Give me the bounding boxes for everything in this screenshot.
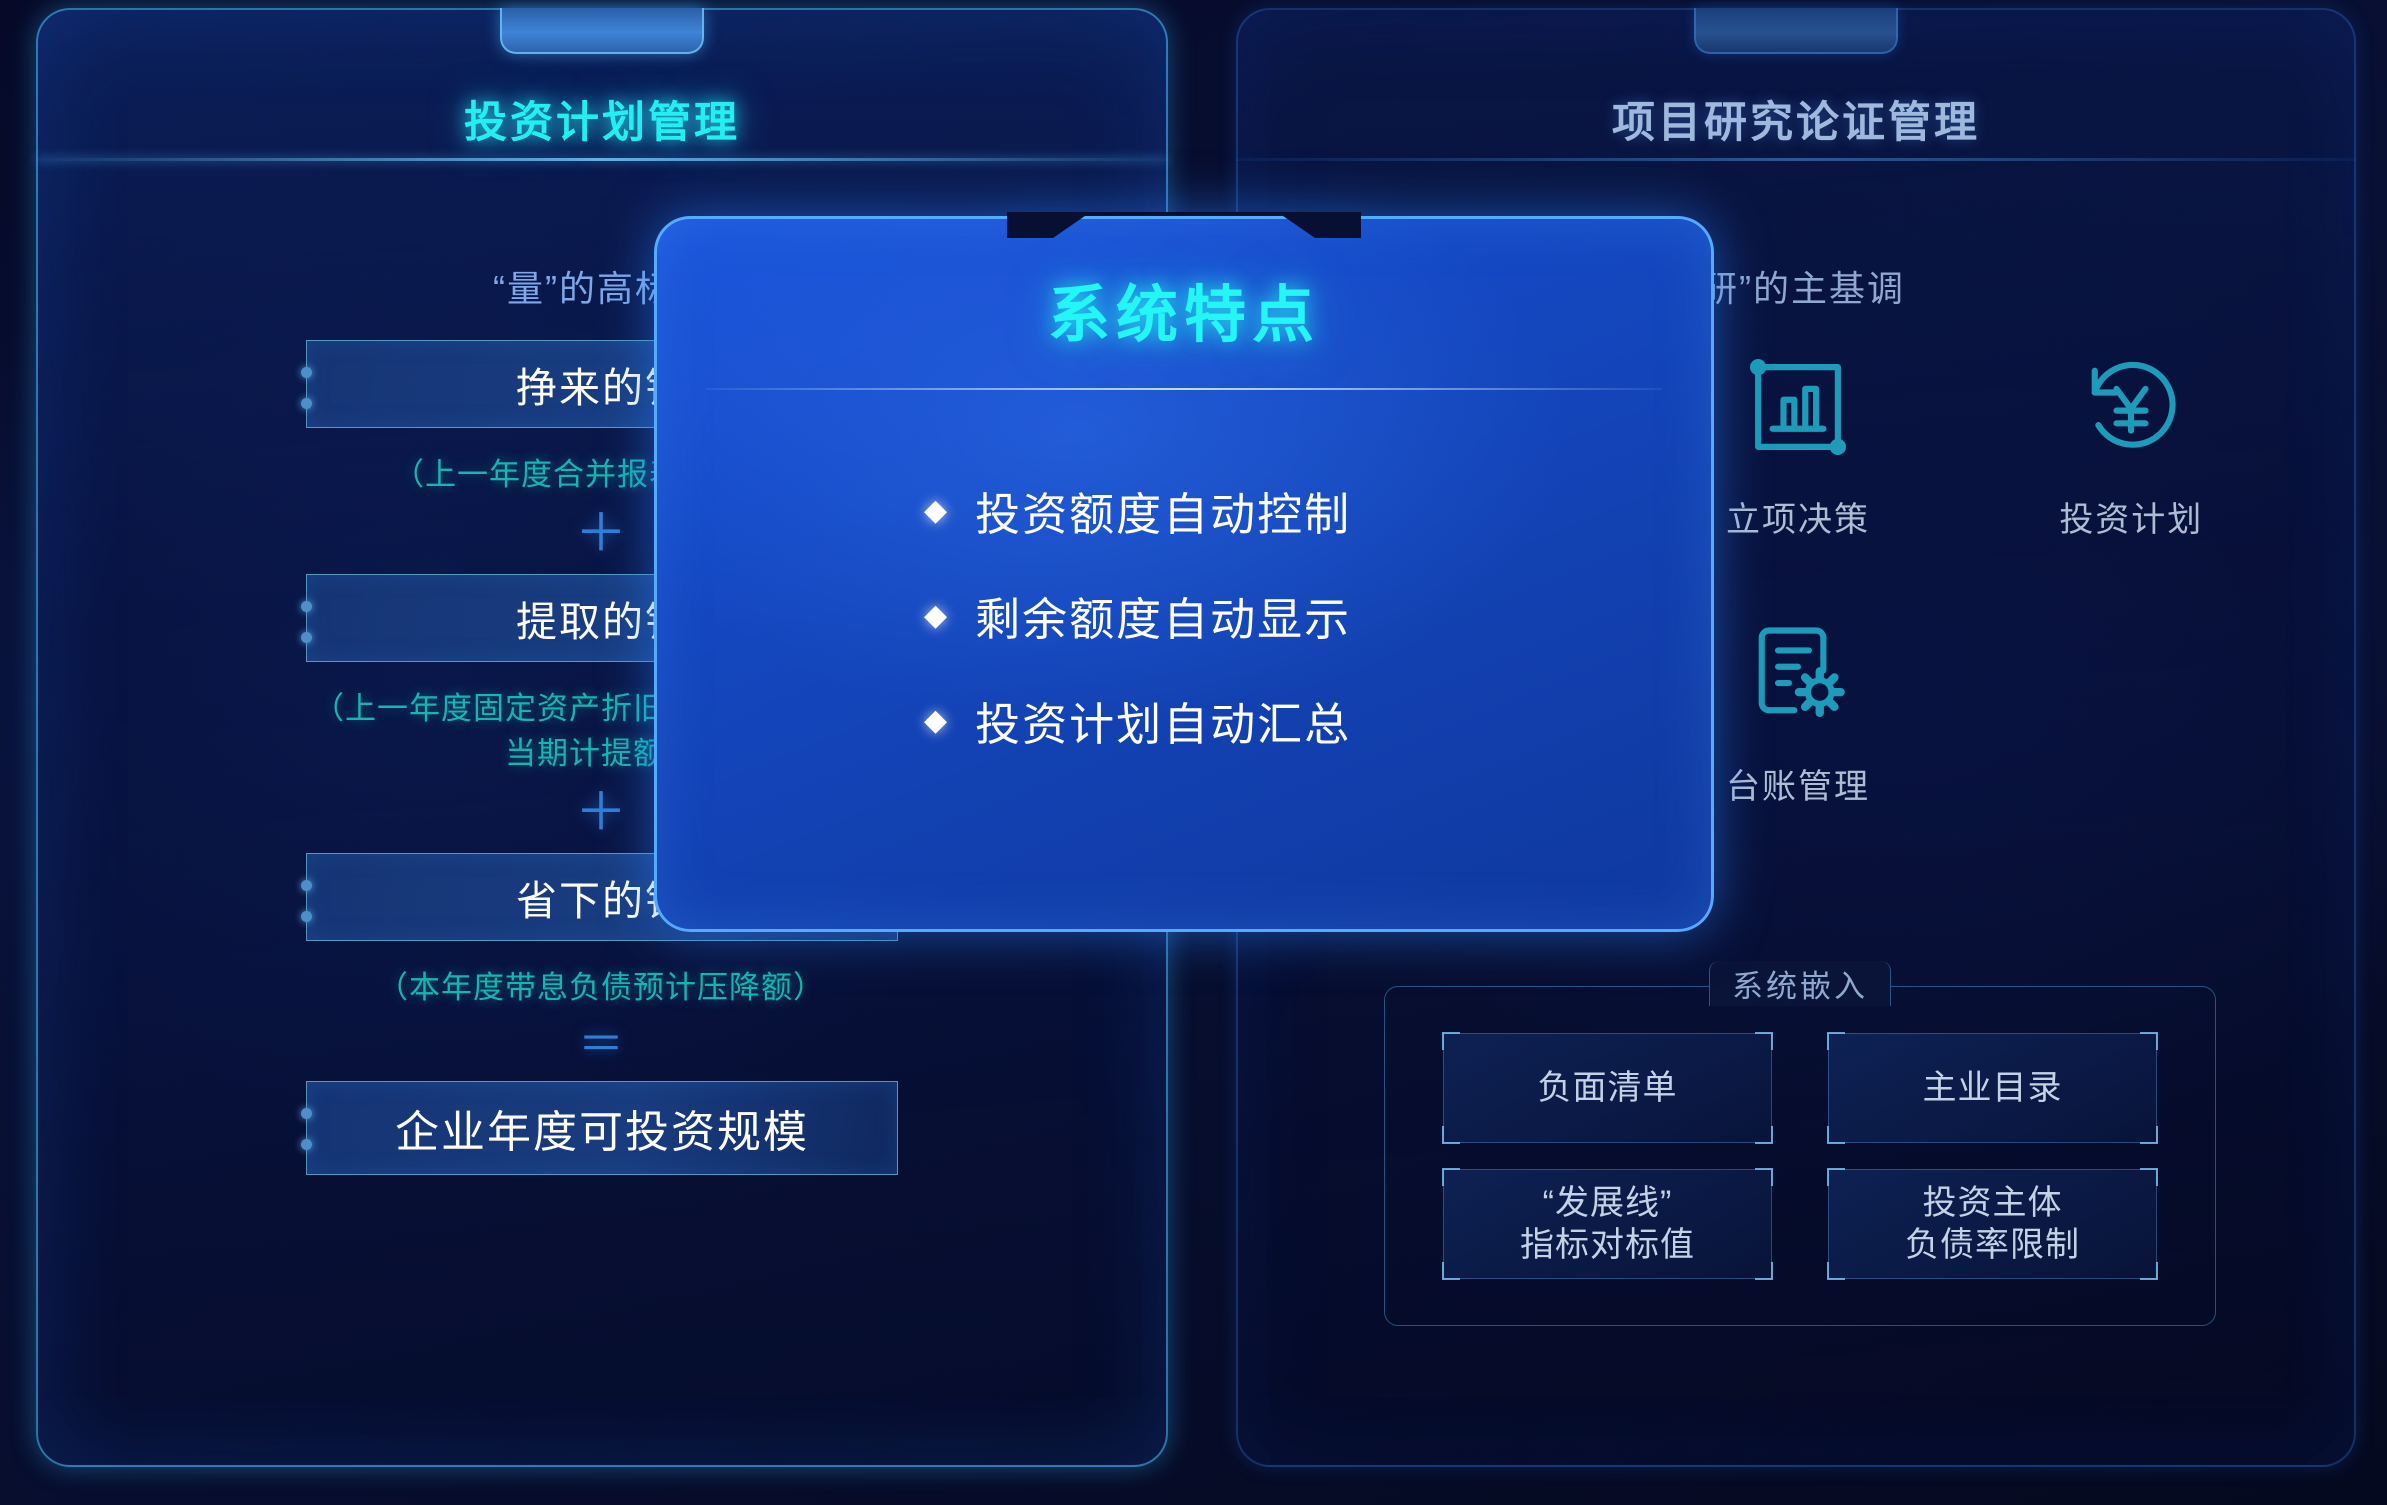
embed-cell-label: 主业目录 (1923, 1067, 2063, 1110)
modal-feature-item[interactable]: ◆ 投资计划自动汇总 (924, 688, 1351, 753)
yuan-cycle-icon (2006, 332, 2256, 482)
modal-title: 系统特点 (654, 264, 1714, 354)
corner-marker-icon (1827, 1168, 1845, 1186)
corner-marker-icon (1755, 1126, 1773, 1144)
corner-marker-icon (2140, 1126, 2158, 1144)
embed-cell-label: 投资主体 负债率限制 (1905, 1182, 2080, 1267)
corner-marker-icon (1827, 1032, 1845, 1050)
diamond-bullet-icon: ◆ (924, 496, 947, 526)
system-embed-grid: 负面清单 主业目录 “发展线” 指标对标值 (1443, 1033, 2157, 1279)
embed-cell-label: 负面清单 (1538, 1067, 1678, 1110)
system-embed-legend: 系统嵌入 (1709, 961, 1891, 1006)
right-panel-title: 项目研究论证管理 (1238, 88, 2354, 150)
system-embed-group: 系统嵌入 负面清单 主业目录 (1384, 986, 2216, 1326)
embed-cell-negative-list[interactable]: 负面清单 (1443, 1033, 1772, 1143)
corner-marker-icon (1442, 1168, 1460, 1186)
modal-top-notch (1007, 212, 1361, 238)
corner-marker-icon (1827, 1262, 1845, 1280)
system-features-modal[interactable]: 系统特点 ◆ 投资额度自动控制 ◆ 剩余额度自动显示 ◆ 投资计划自动汇总 (654, 216, 1714, 932)
corner-marker-icon (1442, 1262, 1460, 1280)
left-panel-divider (36, 158, 1168, 161)
embed-cell-main-business-catalog[interactable]: 主业目录 (1828, 1033, 2157, 1143)
diamond-bullet-icon: ◆ (924, 601, 947, 631)
flow-box-result[interactable]: 企业年度可投资规模 (306, 1081, 898, 1175)
corner-marker-icon (2140, 1168, 2158, 1186)
modal-feature-item[interactable]: ◆ 投资额度自动控制 (924, 478, 1351, 543)
panel-top-notch-left (500, 8, 704, 54)
right-panel-divider (1236, 158, 2356, 161)
corner-marker-icon (1442, 1032, 1460, 1050)
flow-box-label: 企业年度可投资规模 (395, 1096, 809, 1160)
modal-feature-label: 剩余额度自动显示 (975, 583, 1351, 648)
modal-feature-item[interactable]: ◆ 剩余额度自动显示 (924, 583, 1351, 648)
corner-marker-icon (1442, 1126, 1460, 1144)
embed-cell-investor-debt-ratio-limit[interactable]: 投资主体 负债率限制 (1828, 1169, 2157, 1279)
module-investment-plan[interactable]: 投资计划 (2006, 332, 2256, 541)
corner-marker-icon (1755, 1262, 1773, 1280)
connector-dot-icon (301, 632, 312, 643)
left-panel-title: 投资计划管理 (38, 88, 1166, 150)
corner-marker-icon (1755, 1032, 1773, 1050)
connector-dot-icon (301, 367, 312, 378)
corner-marker-icon (2140, 1262, 2158, 1280)
connector-dot-icon (301, 1139, 312, 1150)
corner-marker-icon (1827, 1126, 1845, 1144)
connector-dot-icon (301, 880, 312, 891)
operator-equals: ＝ (306, 1021, 896, 1067)
connector-dot-icon (301, 398, 312, 409)
corner-marker-icon (2140, 1032, 2158, 1050)
corner-marker-icon (1755, 1168, 1773, 1186)
slide-background: 投资计划管理 “量”的高标准 挣来的钱 （上一年度合并报表净利润） ＋ 提取的钱… (0, 0, 2387, 1505)
panel-top-notch-right (1694, 8, 1898, 54)
embed-cell-label: “发展线” 指标对标值 (1520, 1182, 1695, 1267)
modal-feature-label: 投资计划自动汇总 (975, 688, 1351, 753)
connector-dot-icon (301, 1108, 312, 1119)
embed-cell-development-line-benchmark[interactable]: “发展线” 指标对标值 (1443, 1169, 1772, 1279)
modal-feature-label: 投资额度自动控制 (975, 478, 1351, 543)
connector-dot-icon (301, 601, 312, 612)
flow-note-saved: （本年度带息负债预计压降额） (306, 962, 896, 1007)
diamond-bullet-icon: ◆ (924, 706, 947, 736)
connector-dot-icon (301, 911, 312, 922)
modal-body: 系统特点 ◆ 投资额度自动控制 ◆ 剩余额度自动显示 ◆ 投资计划自动汇总 (654, 216, 1714, 932)
module-label: 投资计划 (2006, 492, 2256, 541)
modal-feature-list: ◆ 投资额度自动控制 ◆ 剩余额度自动显示 ◆ 投资计划自动汇总 (924, 478, 1351, 793)
modal-title-divider (706, 388, 1662, 390)
